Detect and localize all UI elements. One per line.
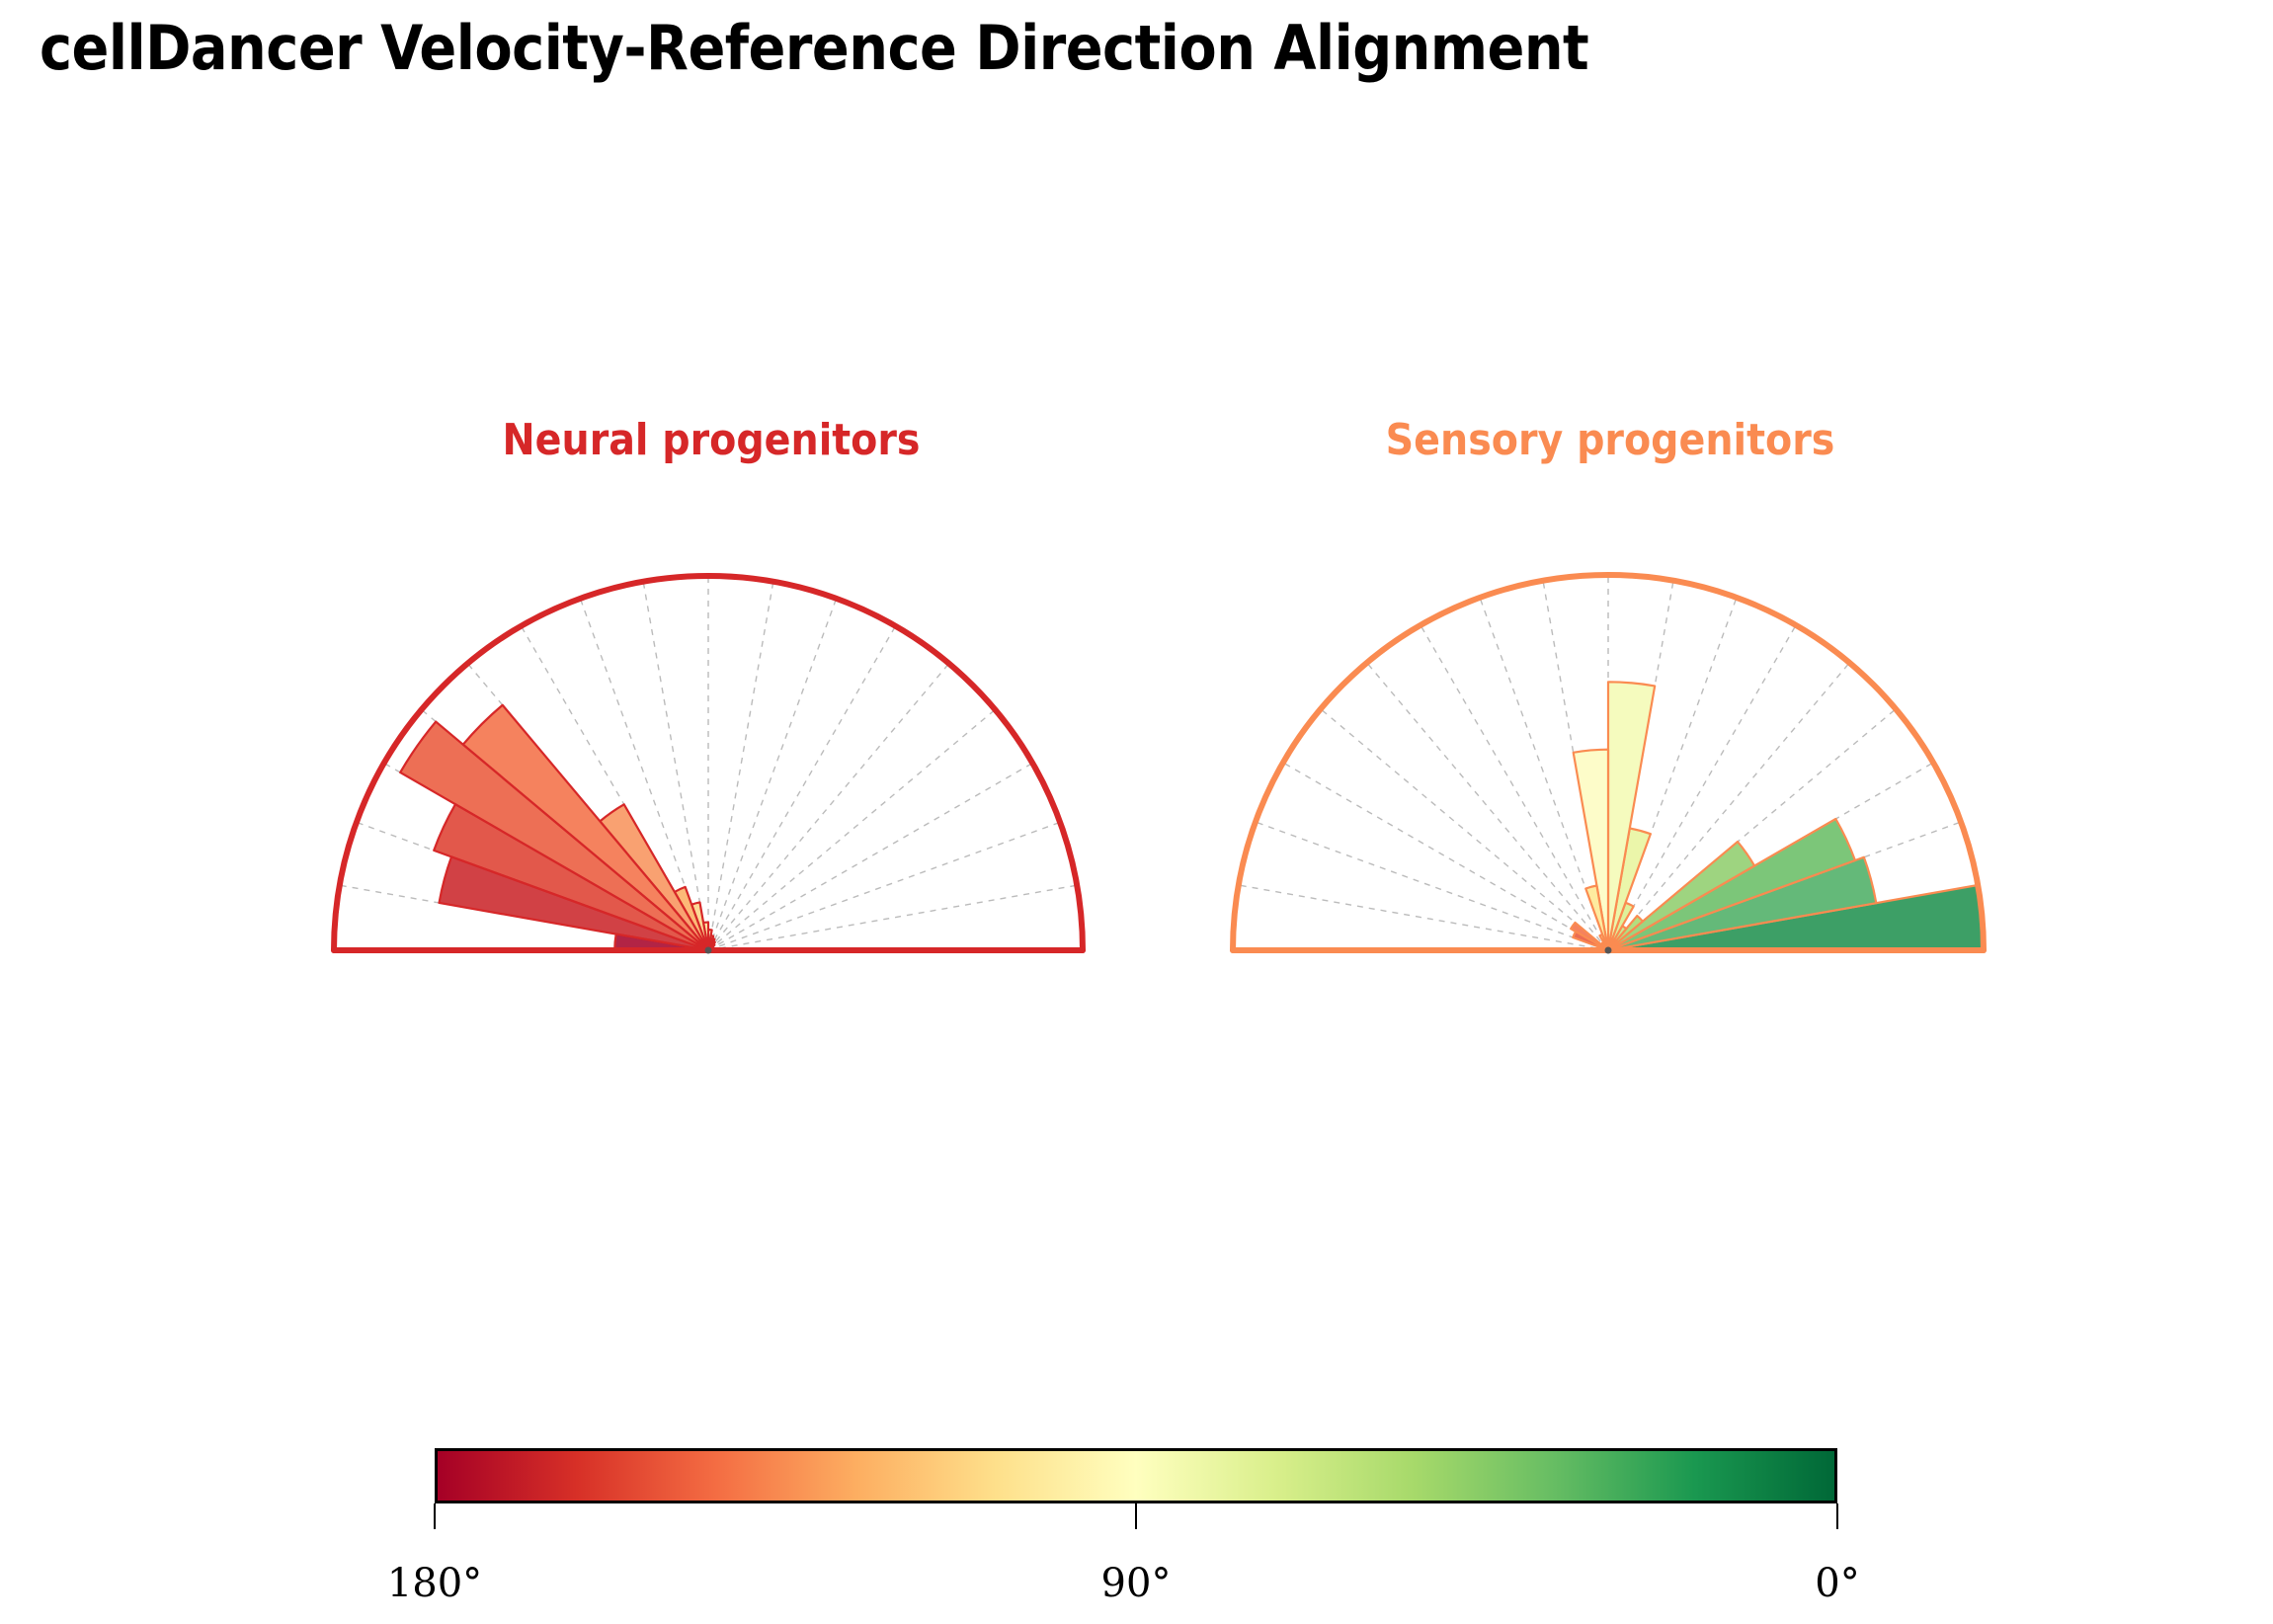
colorbar-tick-label: 0° xyxy=(1815,1561,1859,1606)
colorbar-tick-mark xyxy=(434,1503,436,1529)
page-title: cellDancer Velocity-Reference Direction … xyxy=(40,12,2233,84)
polar-subplot-neural-progenitors: Neural progenitors xyxy=(286,415,1136,988)
polar-origin xyxy=(705,947,712,954)
colorbar: 180°90°0° xyxy=(435,1448,1837,1503)
colorbar-ticks: 180°90°0° xyxy=(435,1503,1837,1612)
colorbar-tick-label: 90° xyxy=(1101,1561,1172,1606)
polar-origin xyxy=(1605,947,1612,954)
subplot-title-neural-progenitors: Neural progenitors xyxy=(286,415,1136,465)
rose-bars xyxy=(1571,682,1984,950)
colorbar-tick-mark xyxy=(1836,1503,1838,1529)
subplot-title-sensory-progenitors: Sensory progenitors xyxy=(1185,415,2035,465)
rose-chart-neural-progenitors xyxy=(286,415,1136,988)
polar-subplot-sensory-progenitors: Sensory progenitors xyxy=(1185,415,2035,988)
rose-bars xyxy=(400,705,715,950)
rose-chart-sensory-progenitors xyxy=(1185,415,2035,988)
colorbar-gradient xyxy=(435,1448,1837,1503)
colorbar-tick-label: 180° xyxy=(387,1561,482,1606)
colorbar-tick-mark xyxy=(1135,1503,1137,1529)
figure-canvas: cellDancer Velocity-Reference Direction … xyxy=(0,0,2273,1624)
